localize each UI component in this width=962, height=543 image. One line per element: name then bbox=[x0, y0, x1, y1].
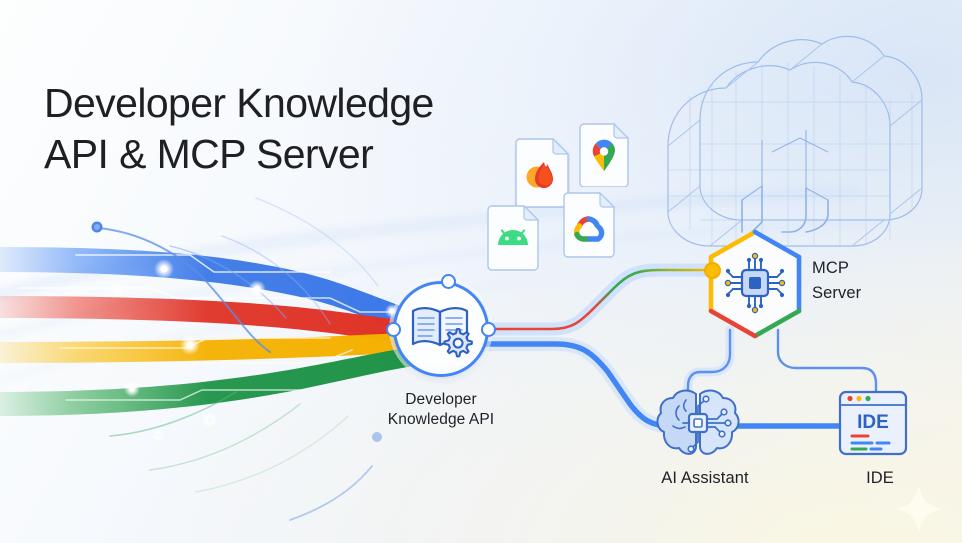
android-doc-card[interactable] bbox=[486, 205, 540, 271]
android-robot-icon bbox=[498, 230, 528, 245]
mcp-server-node[interactable] bbox=[703, 228, 807, 340]
window-dot-yellow bbox=[856, 396, 861, 401]
developer-knowledge-api-label: Developer Knowledge API bbox=[351, 390, 531, 430]
path-api-to-mcp-halo bbox=[489, 270, 712, 329]
window-dot-green bbox=[865, 396, 870, 401]
google-maps-doc-card[interactable] bbox=[578, 123, 630, 187]
brain-circuit-icon bbox=[655, 386, 741, 462]
ai-assistant-node[interactable] bbox=[655, 386, 741, 462]
path-cloud-to-mcp bbox=[742, 186, 828, 232]
book-gear-icon bbox=[393, 281, 489, 377]
ide-screen-text: IDE bbox=[857, 412, 889, 433]
mcp-connector-dot-left bbox=[704, 262, 721, 279]
ai-assistant-label: AI Assistant bbox=[620, 468, 790, 488]
google-cloud-doc-card[interactable] bbox=[562, 192, 616, 258]
ide-node[interactable]: IDE bbox=[838, 390, 908, 456]
api-connector-dot-top bbox=[441, 274, 456, 289]
infographic-canvas: Developer Knowledge API & MCP Server bbox=[0, 0, 962, 543]
window-dot-red bbox=[847, 396, 852, 401]
developer-knowledge-api-node[interactable] bbox=[393, 281, 489, 377]
ide-window-icon: IDE bbox=[838, 390, 908, 456]
mcp-server-label: MCP Server bbox=[812, 256, 932, 306]
api-connector-dot-left bbox=[386, 322, 401, 337]
ide-label: IDE bbox=[820, 468, 940, 488]
api-connector-dot-right bbox=[481, 322, 496, 337]
sparkle-icon bbox=[892, 482, 946, 536]
page-title: Developer Knowledge API & MCP Server bbox=[44, 78, 434, 180]
